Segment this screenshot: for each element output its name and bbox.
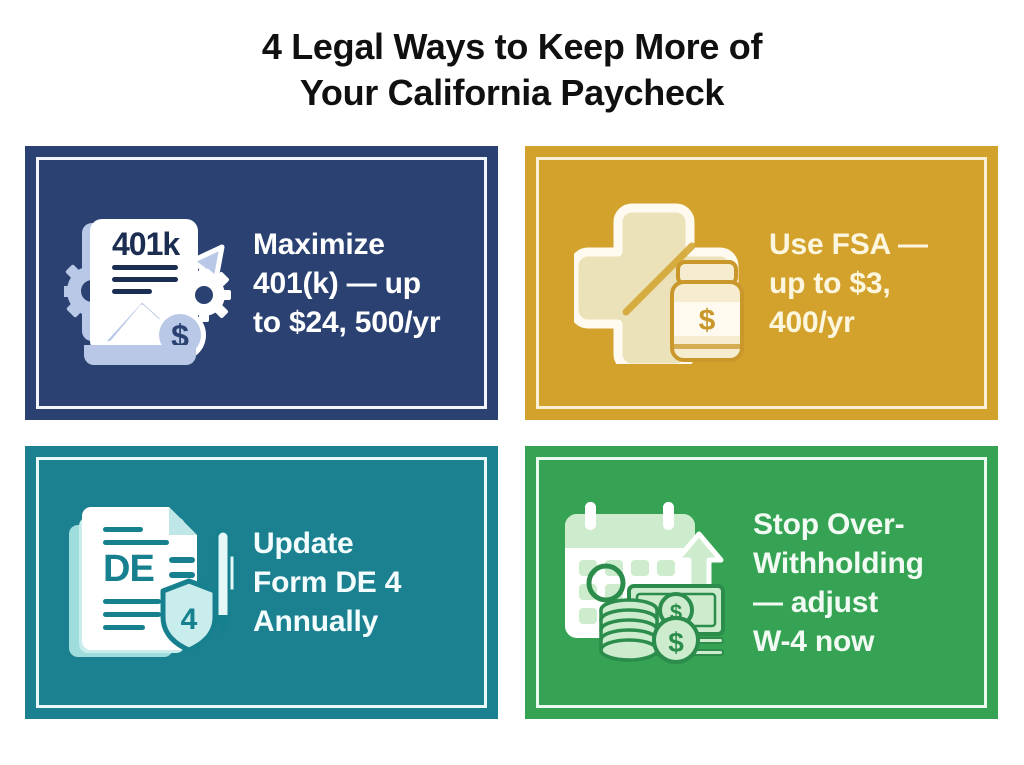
- card-text-line: — adjust: [753, 583, 968, 622]
- svg-text:DE: DE: [103, 548, 154, 590]
- card-text: Stop Over- Withholding — adjust W-4 now: [753, 505, 972, 661]
- card-use-fsa[interactable]: $ Use FSA — up to $3, 400/yr: [525, 146, 998, 420]
- card-body: $: [551, 472, 972, 693]
- card-body: $ Use FSA — up to $3, 400/yr: [551, 172, 972, 394]
- page-title-line-2: Your California Paycheck: [0, 70, 1024, 116]
- card-text: Maximize 401(k) — up to $24, 500/yr: [253, 225, 472, 342]
- card-text: Update Form DE 4 Annually: [253, 524, 472, 641]
- card-text-line: Stop Over-: [753, 505, 968, 544]
- card-stop-over-withholding[interactable]: $: [525, 446, 998, 719]
- calendar-money-arrow-icon: $: [557, 498, 737, 668]
- card-text-line: Update: [253, 524, 468, 563]
- 401k-document-growth-icon: 401k: [63, 198, 243, 368]
- card-text-line: 401(k) — up: [253, 264, 468, 303]
- card-text-line: W-4 now: [753, 622, 968, 661]
- page-title-line-1: 4 Legal Ways to Keep More of: [0, 24, 1024, 70]
- svg-text:$: $: [668, 627, 684, 658]
- card-text-line: up to $3,: [769, 264, 968, 303]
- card-body: 401k: [51, 172, 472, 394]
- medical-cross-medicine-bottle-icon: $: [569, 198, 749, 368]
- card-text-line: Withholding: [753, 544, 968, 583]
- card-maximize-401k[interactable]: 401k: [25, 146, 498, 420]
- card-text: Use FSA — up to $3, 400/yr: [769, 225, 972, 342]
- svg-text:401k: 401k: [112, 226, 180, 262]
- infographic-poster: 4 Legal Ways to Keep More of Your Califo…: [0, 0, 1024, 765]
- card-text-line: Annually: [253, 602, 468, 641]
- card-text-line: Form DE 4: [253, 563, 468, 602]
- card-grid: 401k: [25, 146, 998, 719]
- page-title: 4 Legal Ways to Keep More of Your Califo…: [0, 24, 1024, 116]
- svg-text:4: 4: [181, 603, 198, 636]
- card-text-line: Use FSA —: [769, 225, 968, 264]
- card-body: DE 4: [51, 472, 472, 693]
- svg-text:$: $: [699, 304, 716, 337]
- card-update-de4[interactable]: DE 4: [25, 446, 498, 719]
- card-text-line: Maximize: [253, 225, 468, 264]
- de4-form-document-pen-icon: DE 4: [63, 498, 243, 668]
- card-text-line: to $24, 500/yr: [253, 303, 468, 342]
- card-text-line: 400/yr: [769, 303, 968, 342]
